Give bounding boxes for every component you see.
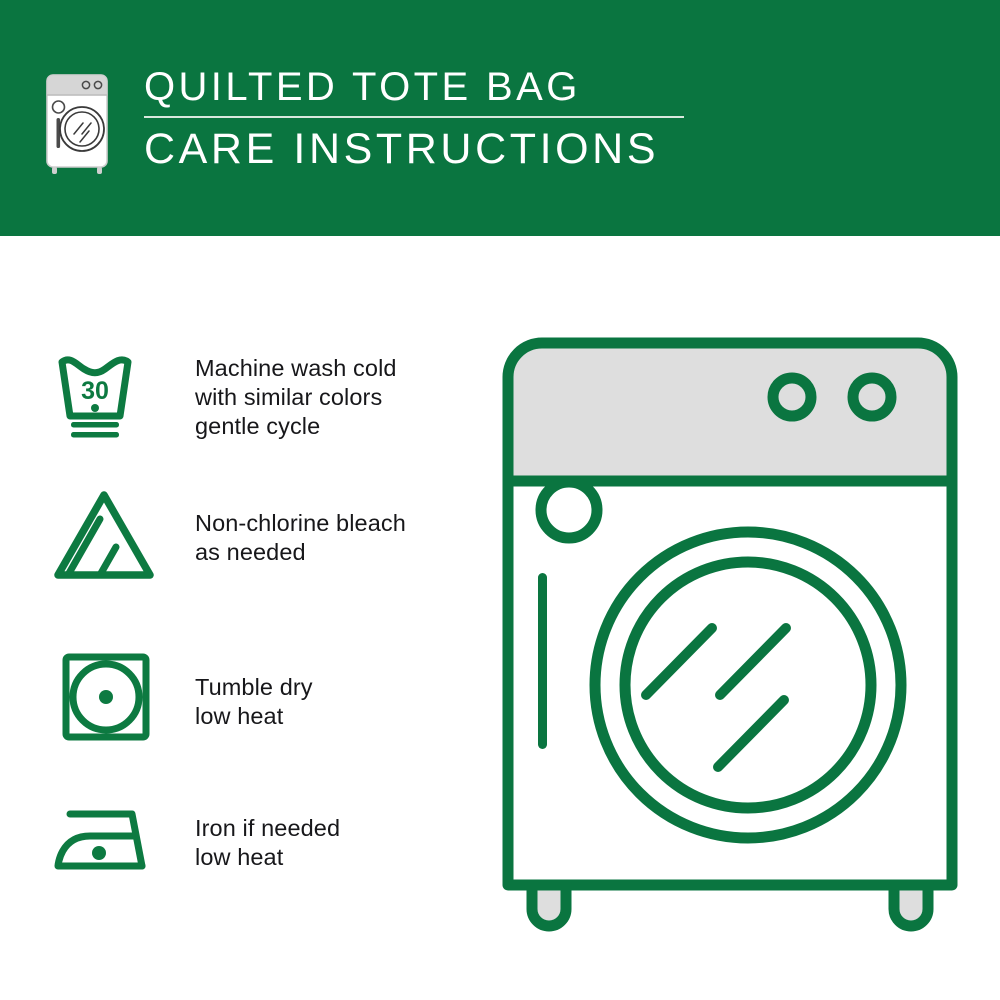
machine-leg-left bbox=[532, 885, 566, 926]
wash-tub-30-gentle-icon: 30 bbox=[50, 342, 160, 446]
care-text-bleach: Non-chlorine bleach as needed bbox=[195, 485, 406, 567]
care-line: low heat bbox=[195, 702, 313, 731]
machine-indicator-bar bbox=[538, 573, 547, 749]
care-line: gentle cycle bbox=[195, 412, 397, 441]
machine-body bbox=[508, 443, 952, 885]
care-line: Iron if needed bbox=[195, 814, 340, 843]
care-text-machine-wash: Machine wash cold with similar colors ge… bbox=[195, 342, 397, 441]
care-line: with similar colors bbox=[195, 383, 397, 412]
care-instructions-infographic: QUILTED TOTE BAG CARE INSTRUCTIONS 30 bbox=[0, 0, 1000, 1000]
washing-machine-illustration bbox=[490, 325, 970, 940]
care-line: Machine wash cold bbox=[195, 354, 397, 383]
title-divider bbox=[144, 116, 684, 118]
care-line: Tumble dry bbox=[195, 673, 313, 702]
tumble-dry-low-heat-icon bbox=[50, 645, 160, 749]
machine-leg-right bbox=[894, 885, 928, 926]
care-row-iron: Iron if needed low heat bbox=[50, 792, 470, 896]
triangle-non-chlorine-bleach-icon bbox=[50, 485, 160, 589]
page-title: QUILTED TOTE BAG bbox=[144, 64, 704, 110]
care-row-machine-wash: 30 Machine wash cold with similar colors… bbox=[50, 342, 470, 446]
iron-low-heat-icon bbox=[50, 792, 160, 896]
header-banner: QUILTED TOTE BAG CARE INSTRUCTIONS bbox=[0, 0, 1000, 236]
header-text-block: QUILTED TOTE BAG CARE INSTRUCTIONS bbox=[144, 64, 704, 174]
care-row-tumble-dry: Tumble dry low heat bbox=[50, 645, 470, 749]
care-text-iron: Iron if needed low heat bbox=[195, 792, 340, 872]
care-line: low heat bbox=[195, 843, 340, 872]
care-text-tumble-dry: Tumble dry low heat bbox=[195, 645, 313, 731]
care-line: as needed bbox=[195, 538, 406, 567]
washing-machine-logo-icon bbox=[44, 72, 110, 176]
wash-temp-label: 30 bbox=[81, 377, 109, 405]
care-line: Non-chlorine bleach bbox=[195, 509, 406, 538]
care-row-bleach: Non-chlorine bleach as needed bbox=[50, 485, 470, 589]
page-subtitle: CARE INSTRUCTIONS bbox=[144, 124, 704, 174]
